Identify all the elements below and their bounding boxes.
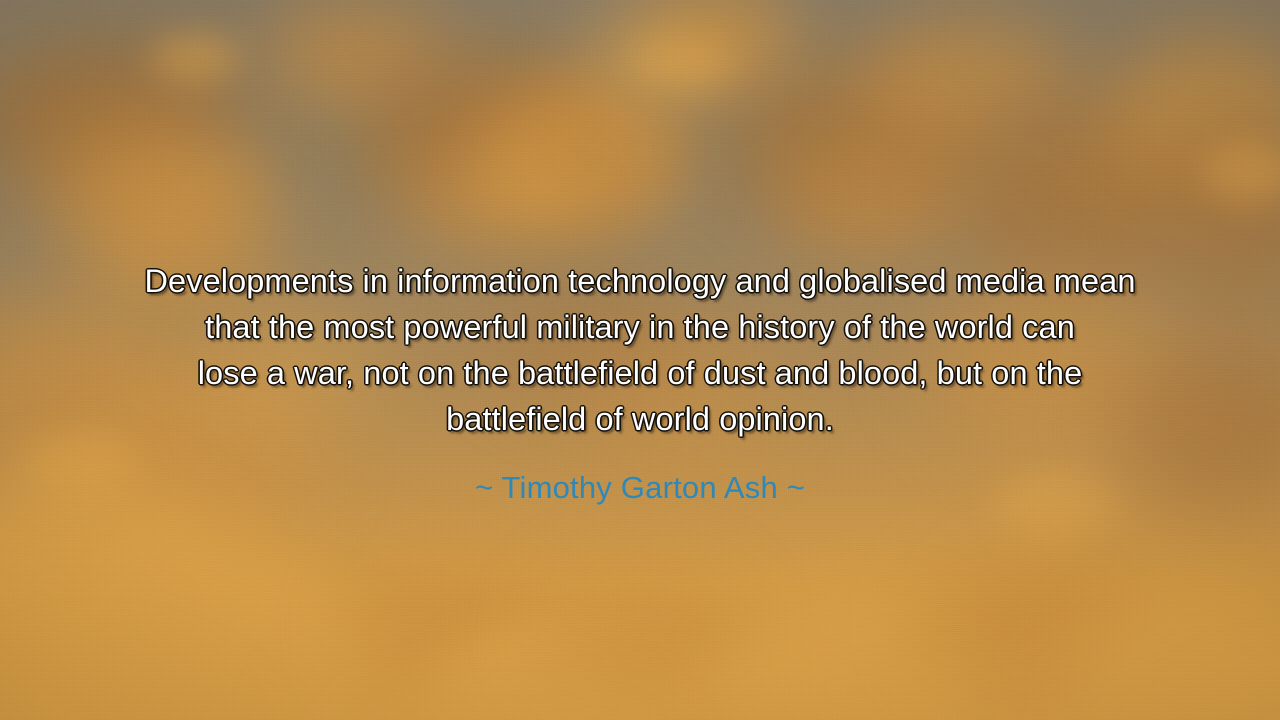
quote-text: Developments in information technology a… [0, 258, 1280, 442]
quote-line-2: that the most powerful military in the h… [56, 304, 1224, 350]
quote-line-4: battlefield of world opinion. [56, 396, 1224, 442]
quote-attribution: ~ Timothy Garton Ash ~ [0, 468, 1280, 508]
quote-card: Developments in information technology a… [0, 0, 1280, 720]
quote-line-3: lose a war, not on the battlefield of du… [56, 350, 1224, 396]
quote-line-1: Developments in information technology a… [56, 258, 1224, 304]
